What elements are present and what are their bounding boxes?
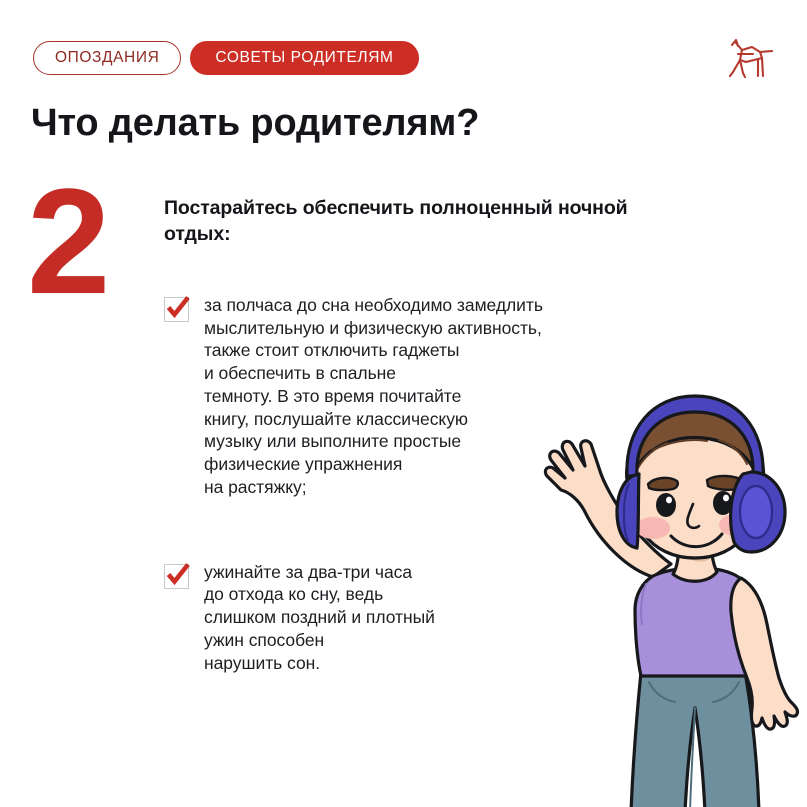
checklist-item: ужинайте за два-три часа до отхода ко сн… xyxy=(164,561,704,675)
red-checkmark-icon xyxy=(164,297,189,322)
checklist-item-text: ужинайте за два-три часа до отхода ко сн… xyxy=(204,561,435,675)
badge-row: ОПОЗДАНИЯ СОВЕТЫ РОДИТЕЛЯМ xyxy=(33,41,419,75)
step-lead-text: Постарайтесь обеспечить полноценный ночн… xyxy=(164,196,694,248)
badge-opozdaniya[interactable]: ОПОЗДАНИЯ xyxy=(33,41,181,75)
checklist-item: за полчаса до сна необходимо замедлить м… xyxy=(164,294,704,499)
checklist-item-text: за полчаса до сна необходимо замедлить м… xyxy=(204,294,543,499)
step-number: 2 xyxy=(27,166,106,316)
badge-sovety-roditelyam[interactable]: СОВЕТЫ РОДИТЕЛЯМ xyxy=(190,41,418,75)
horse-line-logo-icon xyxy=(719,32,777,88)
content-column: Постарайтесь обеспечить полноценный ночн… xyxy=(164,196,704,674)
page-title: Что делать родителям? xyxy=(31,103,479,145)
checklist: за полчаса до сна необходимо замедлить м… xyxy=(164,294,704,675)
infographic-slide: ОПОЗДАНИЯ СОВЕТЫ РОДИТЕЛЯМ Что делать ро… xyxy=(0,0,807,807)
red-checkmark-icon xyxy=(164,564,189,589)
